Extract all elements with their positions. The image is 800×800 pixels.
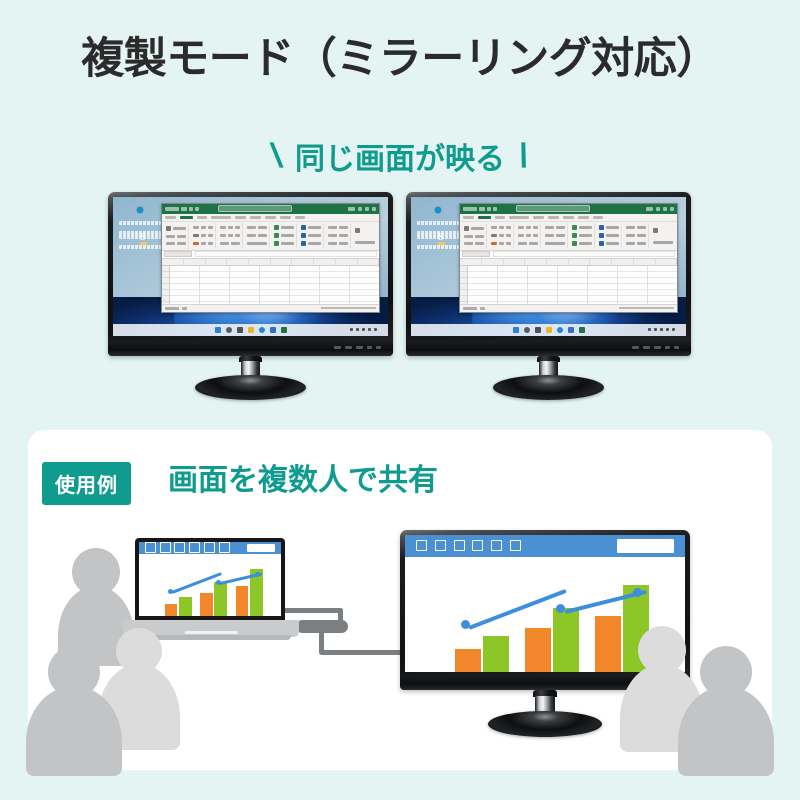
ribbon-group-number[interactable] <box>543 223 568 249</box>
monitor-base <box>488 711 602 737</box>
excel-title-bar <box>460 204 677 214</box>
tab-formulas[interactable] <box>533 216 544 219</box>
ribbon-group-styles[interactable] <box>272 223 297 249</box>
system-tray[interactable] <box>350 328 377 331</box>
maximize-icon[interactable] <box>663 207 667 211</box>
desktop-icon-label <box>417 221 458 225</box>
windows-taskbar[interactable] <box>411 324 686 337</box>
toolbar-square-icon <box>174 542 185 553</box>
excel-search-box[interactable] <box>218 205 292 212</box>
excel-ribbon-tabs[interactable] <box>162 214 379 222</box>
excel-window[interactable] <box>161 203 380 313</box>
excel-formula-bar[interactable] <box>460 251 677 259</box>
desktop-icon-recycle-bin[interactable] <box>119 201 160 225</box>
toolbar-square-icon <box>204 542 215 553</box>
tab-page-layout[interactable] <box>509 216 529 219</box>
excel-search-box[interactable] <box>516 205 590 212</box>
ribbon-group-clipboard[interactable] <box>462 223 487 249</box>
tab-file[interactable] <box>463 216 474 219</box>
osd-minus-button[interactable] <box>643 346 650 349</box>
undo-icon[interactable] <box>189 207 193 211</box>
file-explorer-icon[interactable] <box>546 327 552 333</box>
page-title: 複製モード（ミラーリング対応） <box>0 36 800 83</box>
monitor-osd-buttons[interactable] <box>334 346 381 349</box>
monitor-osd-buttons[interactable] <box>632 346 679 349</box>
autosave-toggle[interactable] <box>463 207 477 211</box>
task-view-icon[interactable] <box>237 327 243 333</box>
tab-insert[interactable] <box>495 216 505 219</box>
ribbon-group-number[interactable] <box>245 223 270 249</box>
chart-bar-orange-3 <box>595 616 620 672</box>
toolbar-square-icon <box>472 540 483 551</box>
ribbon-group-editing[interactable] <box>624 223 649 249</box>
tab-data[interactable] <box>250 216 261 219</box>
search-icon[interactable] <box>226 327 232 333</box>
close-icon[interactable] <box>372 207 376 211</box>
window-controls <box>646 207 674 211</box>
toolbar-square-icon <box>435 540 446 551</box>
excel-icon[interactable] <box>579 327 585 333</box>
start-icon[interactable] <box>215 327 221 333</box>
tab-view[interactable] <box>578 216 589 219</box>
desktop-icon-label <box>119 245 160 249</box>
excel-ribbon-tabs[interactable] <box>460 214 677 222</box>
tab-formulas[interactable] <box>235 216 246 219</box>
excel-ribbon[interactable] <box>162 222 379 251</box>
laptop-lid <box>135 538 285 620</box>
osd-plus-button[interactable] <box>654 346 661 349</box>
monitor-left <box>108 192 393 392</box>
monitor-screen <box>113 197 388 336</box>
account-chip[interactable] <box>646 207 653 211</box>
system-tray[interactable] <box>648 328 675 331</box>
tab-home[interactable] <box>478 216 491 219</box>
search-icon[interactable] <box>524 327 530 333</box>
subtitle-row: \ 同じ画面が映る / <box>0 134 800 178</box>
chart-bar-orange-1 <box>455 649 480 672</box>
excel-formula-bar[interactable] <box>162 251 379 259</box>
toolbar-square-icon <box>145 542 156 553</box>
chart-line-segment-1 <box>469 589 567 630</box>
ribbon-group-analysis[interactable] <box>651 223 675 249</box>
osd-menu-button[interactable] <box>632 346 639 349</box>
monitor-chin <box>406 341 691 356</box>
toolbar-square-icon <box>510 540 521 551</box>
monitor-right <box>406 192 691 392</box>
account-chip[interactable] <box>348 207 355 211</box>
desktop-icon-label <box>119 221 160 225</box>
windows-desktop <box>113 197 388 336</box>
recycle-bin-icon <box>437 200 439 219</box>
name-box[interactable] <box>462 251 490 257</box>
desktop-icon-app-shortcut[interactable] <box>119 231 160 239</box>
name-box[interactable] <box>164 251 192 257</box>
file-explorer-icon[interactable] <box>248 327 254 333</box>
chart-bar-orange-2 <box>525 628 550 672</box>
row-headers[interactable] <box>162 266 170 304</box>
clock-display[interactable] <box>374 328 377 331</box>
desktop-icon-label <box>417 245 458 249</box>
laptop-screen <box>139 542 281 616</box>
autosave-toggle[interactable] <box>165 207 179 211</box>
clock-display[interactable] <box>672 328 675 331</box>
excel-icon[interactable] <box>281 327 287 333</box>
chart-bar-orange-1 <box>165 604 178 616</box>
excel-worksheet[interactable] <box>162 259 379 304</box>
osd-minus-button[interactable] <box>345 346 352 349</box>
recycle-bin-icon <box>139 200 141 219</box>
excel-status-bar <box>162 304 379 312</box>
volume-icon[interactable] <box>362 328 365 331</box>
store-icon[interactable] <box>270 327 276 333</box>
save-icon[interactable] <box>181 207 187 211</box>
redo-icon[interactable] <box>195 207 199 211</box>
desktop-icon-folder[interactable] <box>119 245 160 249</box>
formula-input[interactable] <box>493 251 676 257</box>
ribbon-group-editing[interactable] <box>326 223 351 249</box>
monitor-window-title-bar <box>405 535 685 557</box>
windows-desktop <box>411 197 686 336</box>
chart-bar-orange-2 <box>200 593 213 616</box>
battery-icon[interactable] <box>666 328 669 331</box>
volume-icon[interactable] <box>660 328 663 331</box>
slash-left-icon: \ <box>268 139 285 173</box>
toolbar-square-icon <box>160 542 171 553</box>
osd-menu-button[interactable] <box>334 346 341 349</box>
tab-view[interactable] <box>280 216 291 219</box>
toolbar-square-icon <box>416 540 427 551</box>
chart-bar-green-1 <box>483 636 508 672</box>
tab-review[interactable] <box>265 216 276 219</box>
desktop-icon-list <box>119 201 160 254</box>
monitor-base <box>195 375 306 400</box>
ribbon-group-alignment[interactable] <box>516 223 541 249</box>
tab-file[interactable] <box>165 216 176 219</box>
add-sheet-button[interactable] <box>480 307 485 310</box>
store-icon[interactable] <box>568 327 574 333</box>
chart-line-marker-1 <box>168 589 173 594</box>
network-icon[interactable] <box>654 328 657 331</box>
excel-ribbon[interactable] <box>460 222 677 251</box>
person-viewer-right-front <box>678 646 774 770</box>
desktop-icon-list <box>417 201 458 254</box>
chart-bar-green-2 <box>214 582 227 616</box>
undo-icon[interactable] <box>487 207 491 211</box>
zoom-slider[interactable] <box>619 307 674 309</box>
monitor-base <box>493 375 604 400</box>
chart-bar-green-2 <box>553 608 578 672</box>
tab-data[interactable] <box>548 216 559 219</box>
row-headers[interactable] <box>460 266 468 304</box>
start-icon[interactable] <box>513 327 519 333</box>
usecase-illustration <box>28 520 772 770</box>
worksheet-cells[interactable] <box>170 266 379 304</box>
ribbon-group-cells[interactable] <box>299 223 324 249</box>
monitor-chin <box>108 341 393 356</box>
ribbon-group-styles[interactable] <box>570 223 595 249</box>
person-body <box>26 686 122 776</box>
toolbar-square-icon <box>219 542 230 553</box>
ribbon-group-clipboard[interactable] <box>164 223 189 249</box>
minimize-icon[interactable] <box>656 207 660 211</box>
person-viewer-left-front <box>26 646 122 770</box>
sheet-tab[interactable] <box>165 307 179 310</box>
excel-title-bar <box>162 204 379 214</box>
column-headers[interactable] <box>460 259 677 266</box>
formula-input[interactable] <box>195 251 378 257</box>
toolbar-square-icon <box>189 542 200 553</box>
battery-icon[interactable] <box>368 328 371 331</box>
toolbar-square-icon <box>491 540 502 551</box>
tab-home[interactable] <box>180 216 193 219</box>
maximize-icon[interactable] <box>365 207 369 211</box>
tab-help[interactable] <box>295 216 305 219</box>
desktop-icon-recycle-bin[interactable] <box>417 201 458 225</box>
add-sheet-button[interactable] <box>182 307 187 310</box>
chart-bar-green-1 <box>179 597 192 616</box>
network-icon[interactable] <box>356 328 359 331</box>
tab-page-layout[interactable] <box>211 216 231 219</box>
ribbon-group-alignment[interactable] <box>218 223 243 249</box>
window-controls <box>348 207 376 211</box>
ribbon-group-font[interactable] <box>191 223 216 249</box>
person-body <box>678 686 774 776</box>
zoom-slider[interactable] <box>321 307 376 309</box>
task-view-icon[interactable] <box>535 327 541 333</box>
edge-icon[interactable] <box>259 327 265 333</box>
usecase-title: 画面を複数人で共有 <box>168 462 438 500</box>
address-field <box>247 544 276 551</box>
usecase-badge: 使用例 <box>42 462 131 505</box>
excel-worksheet[interactable] <box>460 259 677 304</box>
chart-bar-orange-3 <box>236 586 249 616</box>
chevron-up-icon[interactable] <box>350 328 353 331</box>
column-headers[interactable] <box>162 259 379 266</box>
monitor-bezel <box>108 192 393 356</box>
osd-input-button[interactable] <box>367 346 372 349</box>
sheet-tab[interactable] <box>463 307 477 310</box>
desktop-icon-folder[interactable] <box>417 245 458 249</box>
monitor-screen <box>411 197 686 336</box>
slash-right-icon: / <box>515 139 532 173</box>
excel-window[interactable] <box>459 203 678 313</box>
edge-icon[interactable] <box>557 327 563 333</box>
worksheet-cells[interactable] <box>468 266 677 304</box>
power-button[interactable] <box>674 346 679 349</box>
tab-review[interactable] <box>563 216 574 219</box>
tab-insert[interactable] <box>197 216 207 219</box>
save-icon[interactable] <box>479 207 485 211</box>
tab-help[interactable] <box>593 216 603 219</box>
desktop-icon-app-shortcut[interactable] <box>417 231 458 239</box>
laptop-window-title-bar <box>139 542 281 554</box>
close-icon[interactable] <box>670 207 674 211</box>
redo-icon[interactable] <box>493 207 497 211</box>
laptop-chart <box>139 554 281 616</box>
power-button[interactable] <box>376 346 381 349</box>
osd-input-button[interactable] <box>665 346 670 349</box>
toolbar-square-icon <box>454 540 465 551</box>
ribbon-group-cells[interactable] <box>597 223 622 249</box>
excel-status-bar <box>460 304 677 312</box>
osd-plus-button[interactable] <box>356 346 363 349</box>
monitor-bezel <box>406 192 691 356</box>
infographic-page: 複製モード（ミラーリング対応） \ 同じ画面が映る / <box>0 0 800 800</box>
ribbon-group-analysis[interactable] <box>353 223 377 249</box>
chevron-up-icon[interactable] <box>648 328 651 331</box>
address-field <box>617 539 674 553</box>
windows-taskbar[interactable] <box>113 324 388 337</box>
ribbon-group-font[interactable] <box>489 223 514 249</box>
minimize-icon[interactable] <box>358 207 362 211</box>
subtitle-text: 同じ画面が映る <box>295 134 505 178</box>
